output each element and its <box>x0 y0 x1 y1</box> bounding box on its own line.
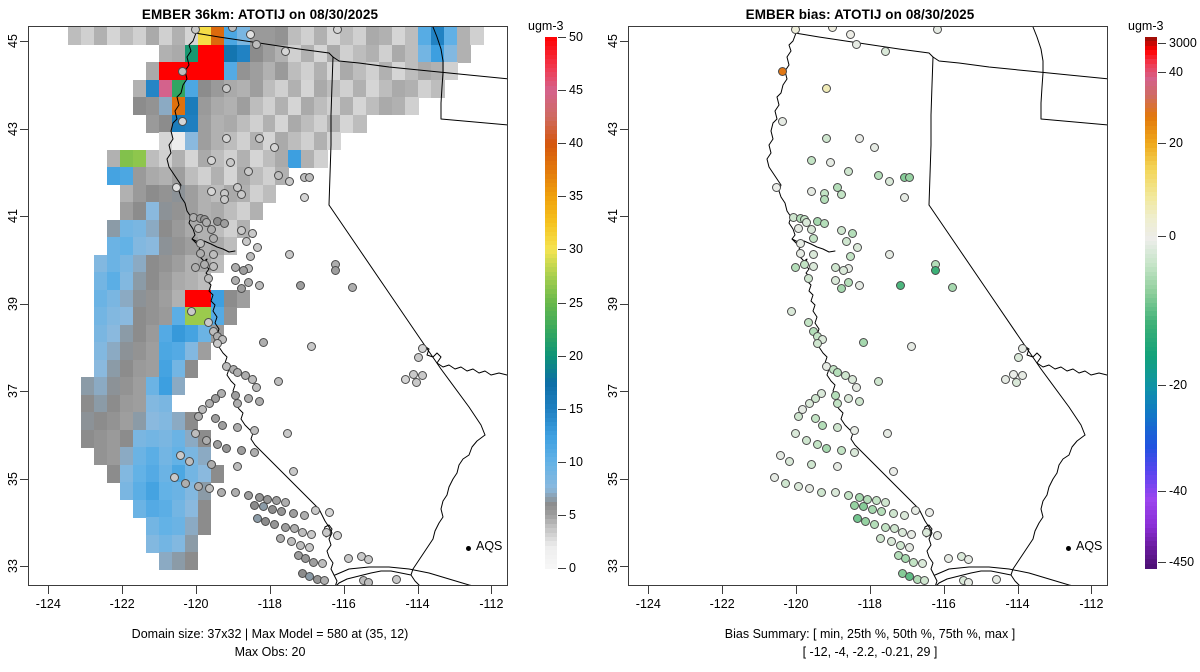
station-marker <box>305 543 314 552</box>
colorbar-bias <box>1145 37 1157 568</box>
station-marker <box>794 224 803 233</box>
station-marker <box>205 399 214 408</box>
station-marker <box>870 520 879 529</box>
y-axis-tick <box>620 129 628 130</box>
colorbar-tick <box>558 196 566 197</box>
station-marker <box>181 479 190 488</box>
colorbar-model <box>545 37 557 568</box>
bias-station-markers <box>629 27 1108 586</box>
station-marker <box>881 498 890 507</box>
station-marker <box>898 528 907 537</box>
station-marker <box>772 183 781 192</box>
colorbar-tick-label: 40 <box>569 136 583 150</box>
station-marker <box>796 239 805 248</box>
station-marker <box>274 171 283 180</box>
station-marker <box>837 190 846 199</box>
station-marker <box>202 436 211 445</box>
station-marker <box>228 26 237 32</box>
station-marker <box>207 460 216 469</box>
station-marker <box>194 224 203 233</box>
colorbar-tick <box>558 90 566 91</box>
y-axis-label: 35 <box>6 472 20 486</box>
station-marker <box>320 576 329 585</box>
station-marker <box>925 508 934 517</box>
colorbar-tick-label: 45 <box>569 83 583 97</box>
station-marker <box>364 578 373 586</box>
colorbar-tick <box>558 568 566 569</box>
station-marker <box>853 243 862 252</box>
x-axis-tick <box>122 586 123 594</box>
station-marker <box>805 399 814 408</box>
station-marker <box>944 554 953 563</box>
station-marker <box>822 444 831 453</box>
station-marker <box>418 344 427 353</box>
x-axis-label: -112 <box>1079 597 1103 611</box>
x-axis-label: -116 <box>932 597 956 611</box>
colorbar-tick-label: 50 <box>569 30 583 44</box>
colorbar-tick <box>1158 72 1166 73</box>
station-marker <box>250 501 259 510</box>
station-marker <box>776 451 785 460</box>
station-marker <box>401 375 410 384</box>
station-marker <box>233 462 242 471</box>
station-marker <box>209 234 218 243</box>
colorbar-tick <box>1158 385 1166 386</box>
x-axis-tick <box>1091 586 1092 594</box>
station-marker <box>907 530 916 539</box>
station-marker <box>807 460 816 469</box>
station-marker <box>850 426 859 435</box>
caption-bias-summary-header: Bias Summary: [ min, 25th %, 50th %, 75t… <box>600 627 1140 641</box>
station-marker <box>905 173 914 182</box>
station-marker <box>226 158 235 167</box>
station-marker <box>283 429 292 438</box>
station-marker <box>826 158 835 167</box>
station-marker <box>1014 353 1023 362</box>
aqs-legend-label: AQS <box>476 539 502 553</box>
station-marker <box>807 225 816 234</box>
station-marker <box>1001 375 1010 384</box>
y-axis-label: 41 <box>606 209 620 223</box>
station-marker <box>818 421 827 430</box>
station-marker <box>874 171 883 180</box>
x-axis-tick <box>270 586 271 594</box>
station-marker <box>907 342 916 351</box>
station-marker <box>992 575 1001 584</box>
station-marker <box>207 187 216 196</box>
station-marker <box>850 448 859 457</box>
station-marker <box>196 239 205 248</box>
station-marker <box>204 318 213 327</box>
station-marker <box>187 307 196 316</box>
station-marker <box>285 177 294 186</box>
x-axis-label: -122 <box>710 597 735 611</box>
station-marker <box>874 377 883 386</box>
station-marker <box>804 274 813 283</box>
station-marker <box>231 488 240 497</box>
station-marker <box>896 281 905 290</box>
station-marker <box>870 143 879 152</box>
station-marker <box>233 423 242 432</box>
x-axis-label: -118 <box>858 597 882 611</box>
station-marker <box>837 446 846 455</box>
station-marker <box>348 283 357 292</box>
station-marker <box>244 394 253 403</box>
plot-area-model: AQS <box>28 26 508 586</box>
station-marker <box>1018 344 1027 353</box>
station-marker <box>213 339 222 348</box>
y-axis-tick <box>20 129 28 130</box>
station-marker <box>885 250 894 259</box>
station-marker <box>178 117 187 126</box>
station-marker <box>255 134 264 143</box>
station-marker <box>781 479 790 488</box>
station-marker <box>331 266 340 275</box>
station-marker <box>844 491 853 500</box>
station-marker <box>833 462 842 471</box>
colorbar-tick-label: 0 <box>1169 229 1176 243</box>
station-marker <box>333 26 342 34</box>
station-marker <box>813 339 822 348</box>
station-marker <box>237 226 246 235</box>
station-marker <box>787 307 796 316</box>
station-marker <box>259 338 268 347</box>
station-marker <box>804 318 813 327</box>
station-marker <box>170 473 179 482</box>
station-marker <box>859 338 868 347</box>
station-marker <box>877 507 886 516</box>
station-marker <box>333 531 342 540</box>
station-marker <box>855 397 864 406</box>
y-axis-label: 41 <box>6 209 20 223</box>
station-marker <box>909 558 918 567</box>
station-marker <box>889 509 898 518</box>
y-axis-tick <box>20 304 28 305</box>
colorbar-segment <box>1145 564 1157 569</box>
x-axis-tick <box>1018 586 1019 594</box>
station-marker <box>964 555 973 564</box>
station-marker <box>896 541 905 550</box>
caption-domain-size: Domain size: 37x32 | Max Model = 580 at … <box>0 627 540 641</box>
colorbar-tick <box>558 143 566 144</box>
station-marker <box>911 506 920 515</box>
figure-canvas: EMBER 36km: ATOTIJ on 08/30/2025 <box>0 0 1200 672</box>
station-marker <box>859 502 868 511</box>
station-marker <box>242 237 251 246</box>
station-marker <box>813 440 822 449</box>
colorbar-tick-label: 35 <box>569 189 583 203</box>
station-marker <box>822 84 831 93</box>
station-marker <box>209 262 218 271</box>
station-marker <box>850 501 859 510</box>
station-marker <box>213 440 222 449</box>
colorbar-tick <box>558 462 566 463</box>
station-marker <box>185 457 194 466</box>
station-marker <box>281 498 290 507</box>
station-marker <box>253 243 262 252</box>
station-marker <box>805 484 814 493</box>
colorbar-tick-label: 0 <box>569 561 576 575</box>
station-marker <box>250 448 259 457</box>
station-marker <box>820 219 829 228</box>
station-marker <box>809 250 818 259</box>
colorbar-tick-label: -20 <box>1169 378 1187 392</box>
station-marker <box>270 520 279 529</box>
station-marker <box>207 156 216 165</box>
colorbar-tick <box>558 515 566 516</box>
y-axis-tick <box>620 304 628 305</box>
station-marker <box>828 26 837 32</box>
station-marker <box>207 225 216 234</box>
colorbar-tick-label: 20 <box>569 349 583 363</box>
x-axis-tick <box>944 586 945 594</box>
station-marker <box>794 412 803 421</box>
x-axis-tick <box>344 586 345 594</box>
caption-bias-summary-values: [ -12, -4, -2.2, -0.21, 29 ] <box>600 645 1140 659</box>
y-axis-tick <box>620 41 628 42</box>
station-marker <box>852 40 861 49</box>
y-axis-tick <box>620 566 628 567</box>
station-marker <box>274 377 283 386</box>
station-marker <box>244 491 253 500</box>
station-marker <box>831 488 840 497</box>
station-marker <box>881 47 890 56</box>
colorbar-tick <box>558 249 566 250</box>
station-marker <box>392 575 401 584</box>
station-marker <box>344 554 353 563</box>
station-marker <box>905 543 914 552</box>
station-marker <box>809 234 818 243</box>
aqs-legend-dot <box>1066 546 1071 551</box>
station-marker <box>300 511 309 520</box>
station-marker <box>255 397 264 406</box>
station-marker <box>298 528 307 537</box>
station-marker <box>296 541 305 550</box>
station-marker <box>281 47 290 56</box>
station-marker <box>868 505 877 514</box>
colorbar-tick-label: 30 <box>569 242 583 256</box>
x-axis-tick <box>722 586 723 594</box>
x-axis-label: -120 <box>783 597 808 611</box>
colorbar-tick-label: 5 <box>569 508 576 522</box>
x-axis-tick <box>796 586 797 594</box>
station-marker <box>287 537 296 546</box>
station-marker <box>833 399 842 408</box>
station-marker <box>933 531 942 540</box>
station-marker <box>364 555 373 564</box>
station-marker <box>794 482 803 491</box>
station-marker <box>414 353 423 362</box>
x-axis-tick <box>418 586 419 594</box>
y-axis-tick <box>620 216 628 217</box>
colorbar-segment <box>545 564 557 569</box>
station-marker <box>770 473 779 482</box>
station-marker <box>846 252 855 261</box>
x-axis-label: -114 <box>405 597 429 611</box>
x-axis-tick <box>48 586 49 594</box>
station-marker <box>800 260 809 269</box>
station-marker <box>820 195 829 204</box>
y-axis-tick <box>20 479 28 480</box>
y-axis-label: 33 <box>6 559 20 573</box>
station-marker <box>844 394 853 403</box>
x-axis-label: -114 <box>1005 597 1029 611</box>
station-marker <box>194 412 203 421</box>
station-marker <box>285 250 294 259</box>
station-marker <box>807 187 816 196</box>
x-axis-label: -124 <box>636 597 661 611</box>
station-marker <box>196 249 205 258</box>
station-marker <box>205 484 214 493</box>
station-marker <box>209 250 218 259</box>
station-marker <box>887 537 896 546</box>
y-axis-label: 43 <box>606 122 620 136</box>
panel-model: EMBER 36km: ATOTIJ on 08/30/2025 <box>0 0 600 672</box>
y-axis-label: 39 <box>606 297 620 311</box>
plot-area-bias: AQS <box>628 26 1108 586</box>
y-axis-label: 37 <box>6 384 20 398</box>
panel-title-model: EMBER 36km: ATOTIJ on 08/30/2025 <box>0 7 520 22</box>
y-axis-tick <box>20 391 28 392</box>
station-marker <box>900 511 909 520</box>
station-marker <box>791 263 800 272</box>
station-marker <box>239 266 248 275</box>
colorbar-tick <box>558 356 566 357</box>
station-marker <box>270 143 279 152</box>
station-marker <box>220 195 229 204</box>
station-marker <box>259 502 268 511</box>
station-marker <box>855 134 864 143</box>
station-marker <box>846 30 855 39</box>
station-marker <box>885 177 894 186</box>
y-axis-label: 43 <box>6 122 20 136</box>
aqs-legend-dot <box>466 546 471 551</box>
station-marker <box>931 266 940 275</box>
colorbar-tick <box>1158 562 1166 563</box>
station-marker <box>246 252 255 261</box>
station-marker <box>191 263 200 272</box>
station-marker <box>233 399 242 408</box>
station-marker <box>311 506 320 515</box>
x-axis-label: -122 <box>110 597 135 611</box>
x-axis-tick <box>648 586 649 594</box>
y-axis-tick <box>620 391 628 392</box>
station-marker <box>844 167 853 176</box>
panel-title-bias: EMBER bias: ATOTIJ on 08/30/2025 <box>600 7 1120 22</box>
station-marker <box>964 578 973 586</box>
station-marker <box>255 281 264 290</box>
station-marker <box>318 559 327 568</box>
y-axis-label: 39 <box>6 297 20 311</box>
model-station-markers <box>29 27 508 586</box>
x-axis-label: -120 <box>183 597 208 611</box>
station-marker <box>194 482 203 491</box>
station-marker <box>1012 378 1021 387</box>
colorbar-tick-label: 15 <box>569 402 583 416</box>
station-marker <box>881 523 890 532</box>
station-marker <box>842 237 851 246</box>
station-marker <box>809 262 818 271</box>
colorbar-tick-label: -450 <box>1169 555 1194 569</box>
station-marker <box>191 429 200 438</box>
station-marker <box>948 283 957 292</box>
y-axis-label: 45 <box>6 34 20 48</box>
station-marker <box>178 67 187 76</box>
colorbar-tick-label: 20 <box>1169 136 1183 150</box>
station-marker <box>922 528 931 537</box>
station-marker <box>289 509 298 518</box>
station-marker <box>322 528 331 537</box>
station-marker <box>272 496 281 505</box>
colorbar-tick-label: 3000 <box>1169 36 1197 50</box>
station-marker <box>300 193 309 202</box>
station-marker <box>785 457 794 466</box>
y-axis-label: 37 <box>606 384 620 398</box>
station-marker <box>802 436 811 445</box>
colorbar-tick <box>1158 43 1166 44</box>
station-marker <box>833 423 842 432</box>
colorbar-tick <box>1158 491 1166 492</box>
station-marker <box>307 342 316 351</box>
station-marker <box>855 281 864 290</box>
station-marker <box>918 559 927 568</box>
x-axis-tick <box>870 586 871 594</box>
colorbar-tick <box>1158 236 1166 237</box>
station-marker <box>796 249 805 258</box>
y-axis-tick <box>20 216 28 217</box>
station-marker <box>244 167 253 176</box>
colorbar-units-bias: ugm-3 <box>1128 19 1163 33</box>
x-axis-label: -116 <box>332 597 356 611</box>
station-marker <box>309 558 318 567</box>
x-axis-label: -124 <box>36 597 61 611</box>
station-marker <box>268 505 277 514</box>
y-axis-label: 33 <box>606 559 620 573</box>
station-marker <box>220 219 229 228</box>
station-marker <box>237 190 246 199</box>
station-marker <box>305 173 314 182</box>
colorbar-tick-label: 10 <box>569 455 583 469</box>
station-marker <box>246 30 255 39</box>
station-marker <box>237 446 246 455</box>
station-marker <box>791 429 800 438</box>
station-marker <box>817 488 826 497</box>
station-marker <box>900 193 909 202</box>
station-marker <box>872 496 881 505</box>
y-axis-tick <box>20 41 28 42</box>
station-marker <box>218 421 227 430</box>
station-marker <box>822 134 831 143</box>
station-marker <box>933 26 942 34</box>
station-marker <box>839 266 848 275</box>
x-axis-label: -118 <box>258 597 282 611</box>
station-marker <box>176 451 185 460</box>
station-marker <box>250 426 259 435</box>
station-marker <box>172 183 181 192</box>
x-axis-tick <box>196 586 197 594</box>
colorbar-units-model: ugm-3 <box>528 19 563 33</box>
station-marker <box>848 375 857 384</box>
station-marker <box>807 156 816 165</box>
aqs-legend-label: AQS <box>1076 539 1102 553</box>
colorbar-tick <box>558 409 566 410</box>
x-axis-label: -112 <box>479 597 503 611</box>
y-axis-tick <box>20 566 28 567</box>
station-marker <box>222 444 231 453</box>
colorbar-tick-label: 40 <box>1169 65 1183 79</box>
station-marker <box>281 523 290 532</box>
station-marker <box>837 284 846 293</box>
